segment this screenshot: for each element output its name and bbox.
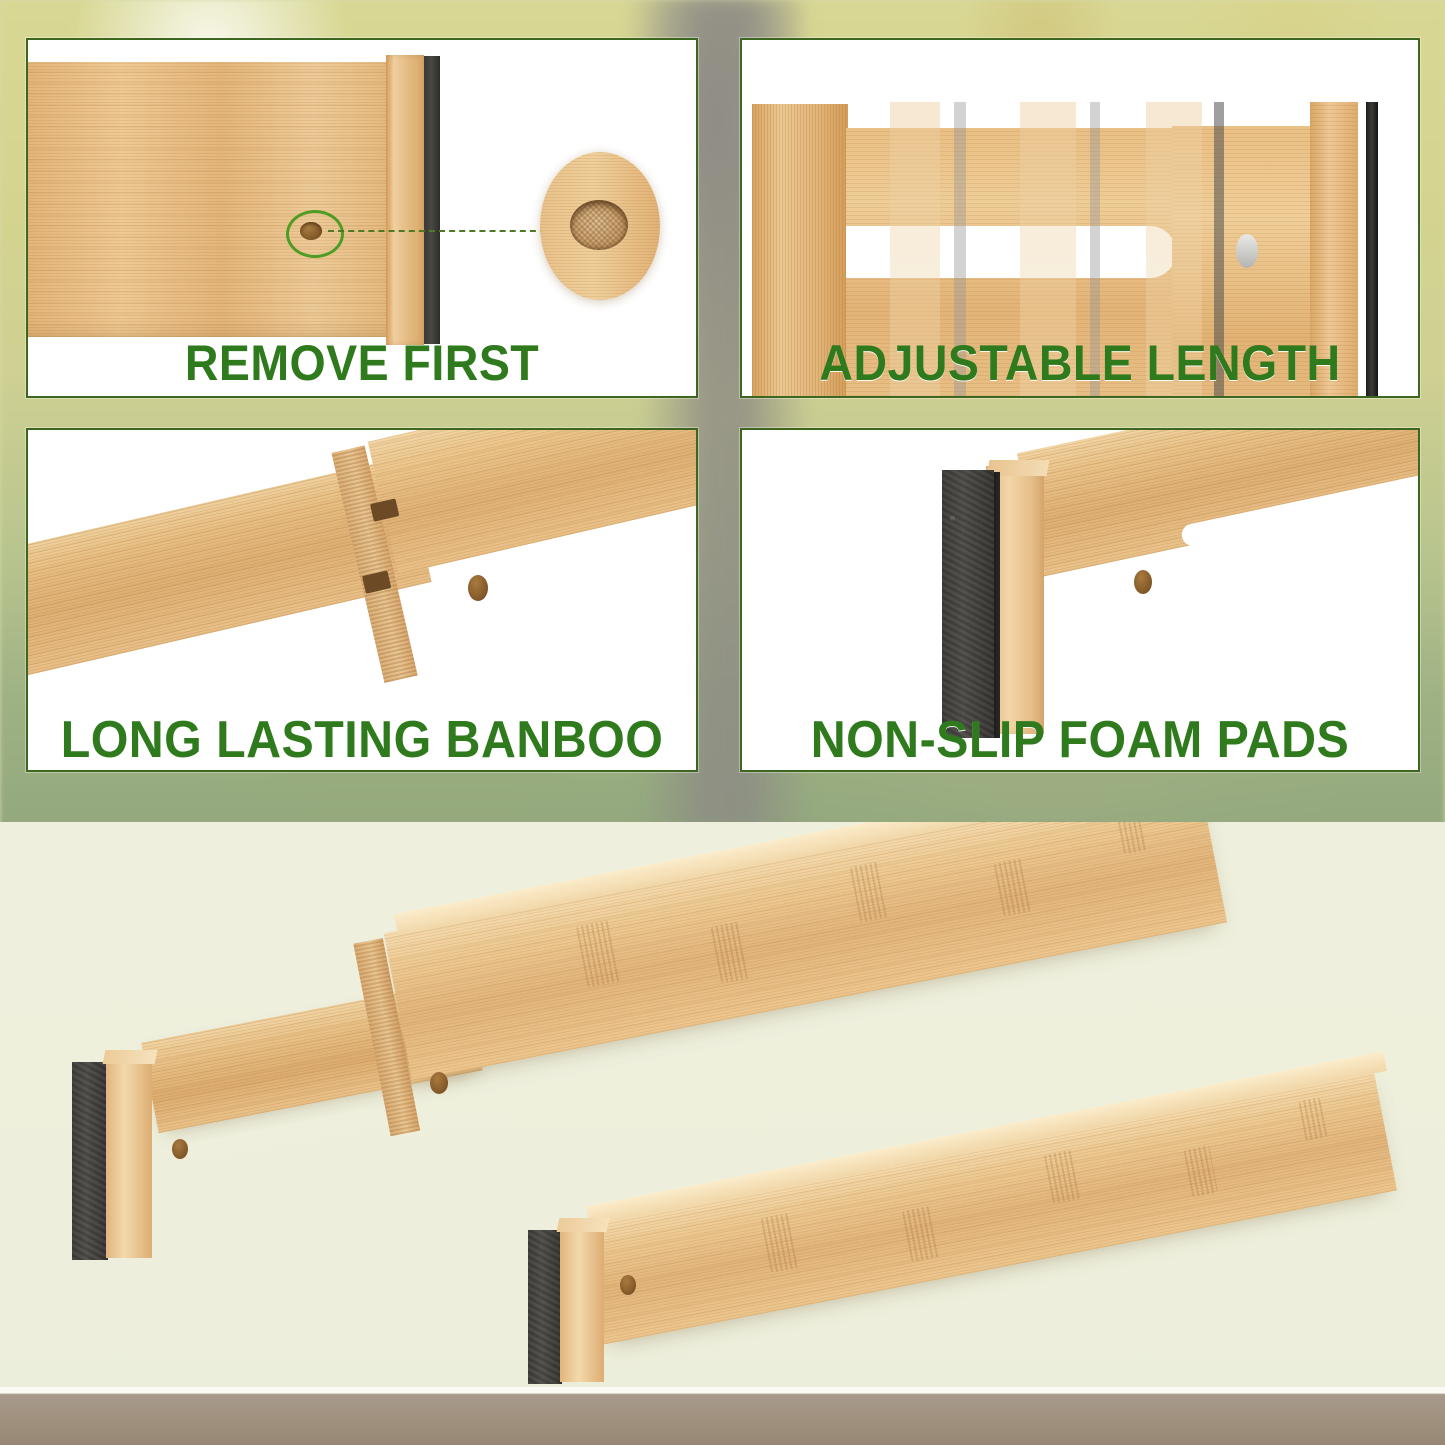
table-surface bbox=[0, 1387, 1445, 1445]
bamboo-node-mark bbox=[710, 921, 751, 984]
screw-hole bbox=[300, 222, 322, 240]
bamboo-node-mark bbox=[1183, 1145, 1218, 1197]
hero-single-end-cap bbox=[560, 1226, 604, 1382]
panel-caption-non-slip-foam-pads: NON-SLIP FOAM PADS bbox=[766, 710, 1395, 770]
feature-panel-adjustable-length: ADJUSTABLE LENGTH bbox=[740, 38, 1420, 398]
screw-hole bbox=[468, 575, 488, 601]
hero-extended-body-hole bbox=[430, 1072, 448, 1094]
bamboo-node-mark bbox=[761, 1213, 801, 1274]
bamboo-node-mark bbox=[1298, 1097, 1327, 1140]
locking-pin bbox=[1236, 234, 1258, 268]
hero-extended-end-cap bbox=[106, 1058, 152, 1258]
hero-product-shot bbox=[0, 822, 1445, 1445]
hero-extended-end-cap-top bbox=[103, 1050, 158, 1064]
bamboo-end-cap bbox=[386, 55, 424, 345]
feature-panel-long-lasting-banboo: LONG LASTING BANBOO bbox=[26, 428, 698, 772]
hero-extended-main-body bbox=[384, 822, 1227, 1081]
magnified-screw-hole bbox=[570, 200, 628, 250]
foam-pad bbox=[424, 56, 440, 344]
feature-panel-remove-first: REMOVE FIRST bbox=[26, 38, 698, 398]
bamboo-outer-body bbox=[368, 428, 698, 574]
callout-dashed-line bbox=[328, 230, 546, 232]
hero-single-end-cap-top bbox=[557, 1218, 610, 1232]
bamboo-node-mark bbox=[994, 858, 1032, 916]
screw-hole bbox=[1134, 570, 1152, 594]
hero-single-foam-pad bbox=[528, 1230, 562, 1384]
bamboo-node-mark bbox=[1044, 1150, 1081, 1204]
hero-extended-rail-hole bbox=[172, 1139, 188, 1159]
hero-single-main-body bbox=[578, 1069, 1397, 1345]
bamboo-node-mark bbox=[902, 1206, 939, 1262]
bamboo-board-face bbox=[26, 62, 388, 337]
infographic-canvas: REMOVE FIRST ADJUSTABLE LENGTH LONG LAST… bbox=[0, 0, 1445, 1445]
bamboo-node-mark bbox=[576, 920, 621, 987]
foam-pad bbox=[942, 470, 994, 738]
panel-caption-remove-first: REMOVE FIRST bbox=[51, 334, 672, 392]
magnifier-detail-circle bbox=[540, 152, 660, 300]
hero-single-screw-hole bbox=[620, 1275, 636, 1295]
panel-caption-adjustable-length: ADJUSTABLE LENGTH bbox=[766, 334, 1395, 392]
bamboo-node-mark bbox=[1116, 822, 1148, 855]
feature-panel-non-slip-foam-pads: NON-SLIP FOAM PADS bbox=[740, 428, 1420, 772]
bamboo-node-mark bbox=[850, 862, 890, 923]
panel-caption-long-lasting-banboo: LONG LASTING BANBOO bbox=[51, 710, 672, 770]
hero-extended-foam-pad bbox=[72, 1062, 108, 1260]
